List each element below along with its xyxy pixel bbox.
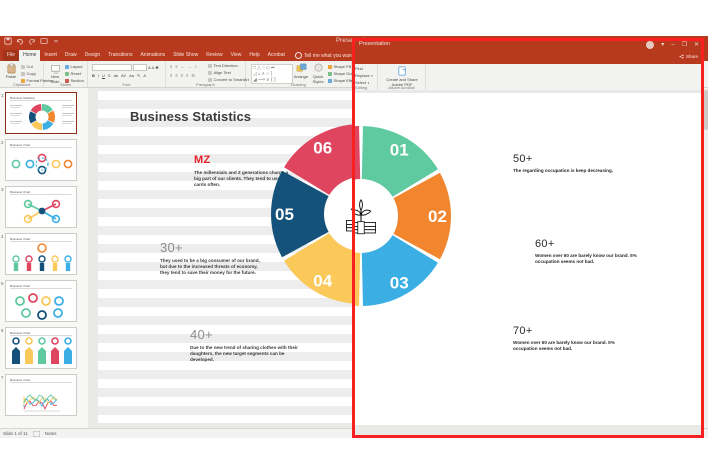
ribbon-tab-acrobat[interactable]: Acrobat — [264, 50, 289, 61]
cut-button[interactable]: Cut — [21, 64, 33, 69]
find-label: Find — [355, 66, 363, 71]
text-block-40plus-body: Due to the new trend of sharing clothes … — [190, 345, 302, 363]
thumbnail-number: 1 — [1, 93, 4, 98]
decrease-indent-button[interactable]: ← — [181, 64, 185, 69]
w2-text-block-60plus-heading: 60+ — [535, 238, 647, 250]
slide-thumbnail-5[interactable]: Business Chart — [5, 280, 77, 322]
ribbon-tab-insert[interactable]: Insert — [40, 50, 61, 61]
text-shadow-button[interactable]: ab — [114, 73, 118, 78]
text-block-40plus[interactable]: 40+ Due to the new trend of sharing clot… — [190, 328, 302, 363]
thumbnail-preview-graphic — [6, 383, 77, 416]
numbering-button[interactable]: ≡ — [175, 64, 177, 69]
paragraph-group-label: Paragraph — [166, 82, 245, 87]
ribbon-tab-view[interactable]: View — [227, 50, 246, 61]
thumbnail-preview-graphic — [6, 336, 77, 369]
donut-segment-label-02: 02 — [428, 207, 447, 226]
strikethrough-button[interactable]: S — [108, 73, 111, 78]
ribbon-group-slides: New Slide Layout Reset Section Slides — [44, 61, 88, 87]
shape-fill-label: Shape Fill — [334, 64, 352, 69]
second-window-stage: 50+ The regarding occupation is keep dec… — [352, 90, 704, 438]
clipboard-group-label: Clipboard — [0, 82, 43, 87]
align-center-button[interactable]: ≡ — [175, 73, 177, 78]
ribbon-group-editing: Find Replace▾ Select▾ Editing — [352, 64, 378, 90]
slide-thumbnail-pane[interactable]: 1Business Statistics2Business Chart3Busi… — [0, 88, 89, 428]
thumbnail-number: 2 — [1, 140, 4, 145]
align-text-icon — [208, 71, 212, 75]
align-right-button[interactable]: ≡ — [181, 73, 183, 78]
quick-styles-icon — [313, 63, 324, 74]
w2-text-block-50plus-body: The regarding occupation is keep decreas… — [513, 168, 623, 174]
bullets-button[interactable]: ≡ — [170, 64, 172, 69]
copy-icon — [21, 72, 25, 76]
second-minimize-button[interactable]: – — [671, 42, 674, 48]
layout-label: Layout — [71, 64, 83, 69]
share-icon — [679, 54, 684, 59]
text-direction-button[interactable]: Text Direction — [208, 63, 238, 68]
text-highlight-button[interactable]: ✎ — [137, 73, 140, 78]
ribbon-tab-animations[interactable]: Animations — [136, 50, 169, 61]
text-block-30plus-heading: 30+ — [160, 241, 268, 255]
ribbon-tab-review[interactable]: Review — [202, 50, 226, 61]
ribbon-group-paragraph: ≡ ≡ ← → ↕ ≡ ≡ ≡ ≡ ☷ Text Direction Align… — [166, 61, 246, 87]
arrange-icon — [296, 63, 307, 74]
ribbon-tab-transitions[interactable]: Transitions — [104, 50, 136, 61]
w2-text-block-50plus-heading: 50+ — [513, 153, 623, 165]
underline-button[interactable]: U — [102, 73, 105, 78]
ribbon-tab-slide-show[interactable]: Slide Show — [169, 50, 202, 61]
replace-label: Replace — [355, 73, 370, 78]
thumbnail-preview-graphic — [6, 101, 77, 134]
second-slide-canvas[interactable]: 50+ The regarding occupation is keep dec… — [352, 93, 704, 425]
second-avatar[interactable] — [646, 41, 654, 49]
layout-icon — [65, 65, 69, 69]
second-window-title: Presentation — [359, 41, 390, 47]
thumbnail-preview-graphic — [6, 195, 77, 228]
second-window-controls[interactable]: ▾ – ❐ ✕ — [646, 41, 699, 49]
align-left-button[interactable]: ≡ — [170, 73, 172, 78]
find-button[interactable]: Find — [355, 66, 363, 71]
create-share-adobe-pdf-button[interactable]: Create and Share Adobe PDF — [384, 66, 420, 87]
thumbnail-preview-graphic — [6, 242, 77, 275]
shape-gallery[interactable]: □△○◇➦◿▵∧∩{◢⟶∨⟦} — [251, 64, 293, 84]
second-window-tab-band — [352, 52, 704, 64]
shape-fill-icon — [328, 65, 332, 69]
font-group-label: Font — [88, 82, 165, 87]
second-slide-inner: 50+ The regarding occupation is keep dec… — [352, 93, 698, 425]
shape-fill-button[interactable]: Shape Fill — [328, 64, 351, 69]
w2-text-block-70plus-heading: 70+ — [513, 325, 625, 337]
slide-thumbnail-2[interactable]: Business Chart — [5, 139, 77, 181]
donut-segment-label-03: 03 — [390, 273, 409, 292]
second-ribbon-options-icon[interactable]: ▾ — [661, 42, 664, 48]
donut-segment-label-04: 04 — [313, 271, 332, 290]
cut-label: Cut — [27, 64, 33, 69]
bold-button[interactable]: B — [92, 73, 95, 78]
ribbon-group-clipboard: Paste Cut Copy Format Painter Clipboard — [0, 61, 44, 87]
w2-donut-chart[interactable]: 010203040506 — [352, 121, 456, 311]
paragraph-align-row[interactable]: ≡ ≡ ≡ ≡ ☷ — [170, 73, 195, 78]
reset-icon — [65, 72, 69, 76]
thumbnail-number: 7 — [1, 375, 4, 380]
lightbulb-icon — [295, 52, 302, 59]
copy-button[interactable]: Copy — [21, 71, 36, 76]
thumbnail-number: 6 — [1, 328, 4, 333]
arrange-label: Arrange — [294, 75, 308, 80]
w2-text-block-70plus[interactable]: 70+ Women over 60 are barely know our br… — [513, 325, 625, 352]
cut-icon — [21, 65, 25, 69]
language-icon[interactable] — [33, 431, 40, 437]
reset-label: Reset — [71, 71, 81, 76]
thumbnail-number: 3 — [1, 187, 4, 192]
reset-button[interactable]: Reset — [65, 71, 81, 76]
decrease-font-size-icon[interactable]: A — [152, 65, 155, 70]
share-button[interactable]: Share — [679, 54, 698, 59]
columns-button[interactable]: ☷ — [191, 73, 195, 78]
new-slide-button[interactable]: New Slide — [47, 63, 63, 84]
ribbon-tab-design[interactable]: Design — [81, 50, 105, 61]
slide-thumbnail-1[interactable]: Business Statistics — [5, 92, 77, 134]
slide-thumbnail-7[interactable]: Business Chart — [5, 374, 77, 416]
slides-group-label: Slides — [44, 82, 87, 87]
text-block-30plus[interactable]: 30+ They used to be a big consumer of ou… — [160, 241, 268, 276]
slide-thumbnail-6[interactable]: Business Chart — [5, 327, 77, 369]
donut-segment-label-05: 05 — [275, 205, 294, 224]
clear-formatting-icon[interactable]: ✱ — [155, 65, 158, 70]
second-presentation-window: Presentation ▾ – ❐ ✕ Share Find Replace▾… — [352, 38, 704, 438]
thumbnail-number: 5 — [1, 281, 4, 286]
ribbon-group-drawing: □△○◇➦◿▵∧∩{◢⟶∨⟦} Arrange Quick Styles Sha… — [246, 61, 352, 87]
w2-plant-money-icon — [352, 195, 382, 237]
line-spacing-button[interactable]: ↕ — [195, 64, 197, 69]
arrange-button[interactable]: Arrange — [293, 63, 309, 80]
text-block-40plus-heading: 40+ — [190, 328, 302, 342]
font-color-button[interactable]: A — [143, 73, 146, 78]
w2-text-block-60plus[interactable]: 60+ Women over 60 are barely know our br… — [535, 238, 647, 265]
adobe-pdf-icon — [397, 66, 408, 77]
second-window-title-bar: Presentation ▾ – ❐ ✕ — [352, 38, 704, 52]
w2-text-block-50plus[interactable]: 50+ The regarding occupation is keep dec… — [513, 153, 623, 174]
drawing-group-label: Drawing — [246, 82, 351, 87]
text-direction-label: Text Direction — [214, 63, 238, 68]
thumbnail-preview-graphic — [6, 289, 77, 322]
font-size-input[interactable] — [133, 64, 147, 71]
increase-font-size-icon[interactable]: A — [148, 65, 151, 70]
second-close-button[interactable]: ✕ — [694, 42, 699, 48]
page-title: Business Statistics — [130, 109, 251, 124]
donut-segment-label-01: 01 — [390, 141, 409, 160]
align-text-button[interactable]: Align Text — [208, 70, 231, 75]
italic-button[interactable]: I — [98, 73, 99, 78]
slide-thumbnail-3[interactable]: Business Chart — [5, 186, 77, 228]
scrollbar-thumb[interactable] — [704, 90, 708, 130]
layout-button[interactable]: Layout — [65, 64, 83, 69]
font-name-row[interactable]: A A ✱ — [92, 64, 159, 71]
w2-text-block-60plus-body: Women over 60 are barely know our brand.… — [535, 253, 647, 265]
thumbnail-preview-graphic — [6, 148, 77, 181]
ribbon-tab-home[interactable]: Home — [19, 50, 40, 61]
slide-thumbnail-4[interactable]: Business Chart — [5, 233, 77, 275]
ribbon-tab-draw[interactable]: Draw — [61, 50, 81, 61]
second-maximize-button[interactable]: ❐ — [682, 42, 687, 48]
text-direction-icon — [208, 64, 212, 68]
ribbon-group-acrobat: Create and Share Adobe PDF Adobe Acrobat — [378, 64, 426, 90]
change-case-button[interactable]: Aa — [129, 73, 134, 78]
smartart-icon — [208, 78, 212, 82]
increase-indent-button[interactable]: → — [188, 64, 192, 69]
align-text-label: Align Text — [214, 70, 231, 75]
w2-text-block-70plus-body: Women over 60 are barely know our brand.… — [513, 340, 625, 352]
share-label: Share — [686, 54, 698, 59]
quick-styles-button[interactable]: Quick Styles — [310, 63, 326, 84]
ribbon-tab-help[interactable]: Help — [245, 50, 263, 61]
slide-counter: Slide 1 of 11 — [3, 431, 28, 436]
ribbon-tab-file[interactable]: File — [3, 50, 19, 61]
donut-segment-label-06: 06 — [313, 139, 332, 158]
notes-button[interactable]: Notes — [45, 431, 57, 436]
second-window-ribbon: Find Replace▾ Select▾ Editing Create and… — [352, 64, 704, 91]
powerpoint-window: Presentation ▾ – ❐ ✕ FileHomeInsertDrawD… — [0, 0, 708, 472]
thumbnail-number: 4 — [1, 234, 4, 239]
new-slide-icon — [50, 63, 61, 74]
ribbon-group-font: A A ✱ B I U S ab AV Aa ✎ A Font — [88, 61, 166, 87]
font-name-input[interactable] — [92, 64, 132, 71]
shape-outline-icon — [328, 72, 332, 76]
copy-label: Copy — [27, 71, 36, 76]
paste-icon — [6, 63, 17, 74]
replace-button[interactable]: Replace▾ — [355, 73, 373, 78]
paste-button[interactable]: Paste — [3, 63, 19, 80]
justify-button[interactable]: ≡ — [186, 73, 188, 78]
paragraph-list-row[interactable]: ≡ ≡ ← → ↕ — [170, 64, 197, 69]
character-spacing-button[interactable]: AV — [121, 73, 126, 78]
paste-label: Paste — [6, 75, 16, 80]
font-style-row[interactable]: B I U S ab AV Aa ✎ A — [92, 73, 146, 78]
text-block-30plus-body: They used to be a big consumer of our br… — [160, 258, 268, 276]
